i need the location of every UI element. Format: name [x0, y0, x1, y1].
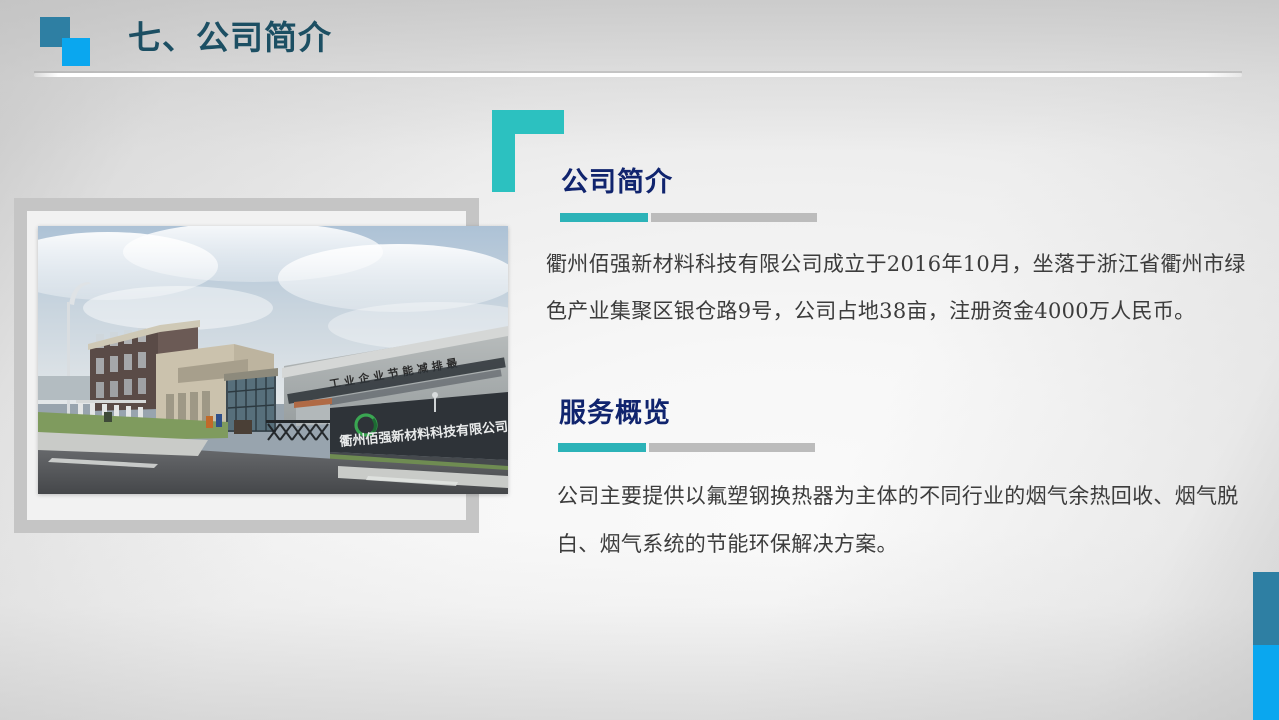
corner-accent-bottom	[1253, 645, 1279, 720]
page-title: 七、公司简介	[128, 16, 332, 60]
divider-segment-gray	[651, 213, 817, 222]
teal-bracket-vertical	[492, 110, 515, 192]
divider-segment-teal	[558, 443, 646, 452]
photo-block: 工 业 企 业 节 能 减 排 最	[14, 198, 479, 533]
slide-canvas: 七、公司简介	[0, 0, 1279, 720]
section-heading-company-intro: 公司简介	[561, 160, 673, 199]
company-facility-photo: 工 业 企 业 节 能 减 排 最	[38, 226, 508, 494]
section-divider-company-intro	[560, 213, 817, 222]
divider-segment-teal	[560, 213, 648, 222]
header-rule	[34, 73, 1242, 77]
corner-accent-block	[1253, 572, 1279, 720]
section-heading-service-overview: 服务概览	[559, 391, 671, 430]
section-body-service-overview: 公司主要提供以氟塑钢换热器为主体的不同行业的烟气余热回收、烟气脱白、烟气系统的节…	[557, 472, 1257, 568]
corner-accent-top	[1253, 572, 1279, 645]
section-body-company-intro: 衢州佰强新材料科技有限公司成立于2016年10月，坐落于浙江省衢州市绿色产业集聚…	[546, 241, 1246, 335]
section-divider-service-overview	[558, 443, 815, 452]
header-square-bright-icon	[62, 38, 90, 66]
teal-corner-bracket-icon	[492, 110, 564, 192]
company-facility-photo-graphic: 工 业 企 业 节 能 减 排 最	[38, 226, 508, 494]
divider-segment-gray	[649, 443, 815, 452]
